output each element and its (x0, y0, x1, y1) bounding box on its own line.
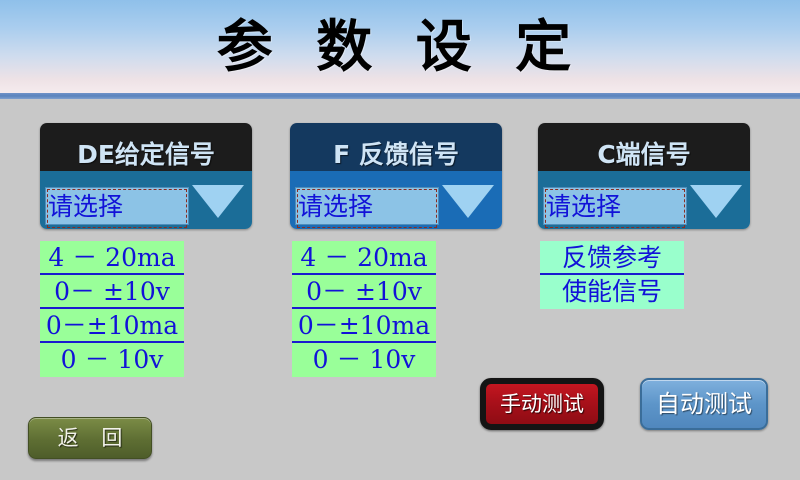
option-list-f-feedback-signal[interactable]: 4 － 20ma 0－ ±10v 0－±10ma 0 － 10v (292, 241, 436, 377)
list-item[interactable]: 反馈参考 (540, 241, 684, 275)
combo-value-c-terminal-signal: 请选择 (546, 190, 621, 224)
combo-de-given-signal[interactable]: 请选择 (45, 187, 189, 225)
back-button[interactable]: 返 回 (28, 417, 152, 459)
page-title: 参 数 设 定 (0, 9, 800, 85)
parameter-setting-screen: 参 数 设 定 DE给定信号 请选择 4 － 20ma 0－ ±10v 0－±1… (0, 0, 800, 480)
list-item[interactable]: 使能信号 (540, 275, 684, 309)
chevron-down-icon-c-terminal-signal[interactable] (690, 185, 742, 218)
option-list-de-given-signal[interactable]: 4 － 20ma 0－ ±10v 0－±10ma 0 － 10v (40, 241, 184, 377)
list-item[interactable]: 4 － 20ma (40, 241, 184, 275)
panel-f-feedback-signal: F 反馈信号 请选择 (290, 123, 502, 229)
option-list-c-terminal-signal[interactable]: 反馈参考 使能信号 (540, 241, 684, 309)
manual-test-button[interactable]: 手动测试 (480, 378, 604, 430)
panel-title-de-given-signal: DE给定信号 (40, 140, 252, 170)
panel-c-terminal-signal: C端信号 请选择 (538, 123, 750, 229)
list-item[interactable]: 0 － 10v (40, 343, 184, 377)
auto-test-button[interactable]: 自动测试 (640, 378, 768, 430)
header-divider (0, 93, 800, 99)
list-item[interactable]: 0－±10ma (292, 309, 436, 343)
chevron-down-icon-f-feedback-signal[interactable] (442, 185, 494, 218)
list-item[interactable]: 0－ ±10v (292, 275, 436, 309)
chevron-down-icon-de-given-signal[interactable] (192, 185, 244, 218)
panel-title-f-feedback-signal: F 反馈信号 (290, 140, 502, 170)
panel-de-given-signal: DE给定信号 请选择 (40, 123, 252, 229)
header-banner: 参 数 设 定 (0, 0, 800, 97)
combo-f-feedback-signal[interactable]: 请选择 (295, 187, 439, 225)
list-item[interactable]: 4 － 20ma (292, 241, 436, 275)
combo-value-de-given-signal: 请选择 (48, 190, 123, 224)
list-item[interactable]: 0－ ±10v (40, 275, 184, 309)
list-item[interactable]: 0－±10ma (40, 309, 184, 343)
combo-c-terminal-signal[interactable]: 请选择 (543, 187, 687, 225)
combo-value-f-feedback-signal: 请选择 (298, 190, 373, 224)
list-item[interactable]: 0 － 10v (292, 343, 436, 377)
panel-title-c-terminal-signal: C端信号 (538, 140, 750, 170)
